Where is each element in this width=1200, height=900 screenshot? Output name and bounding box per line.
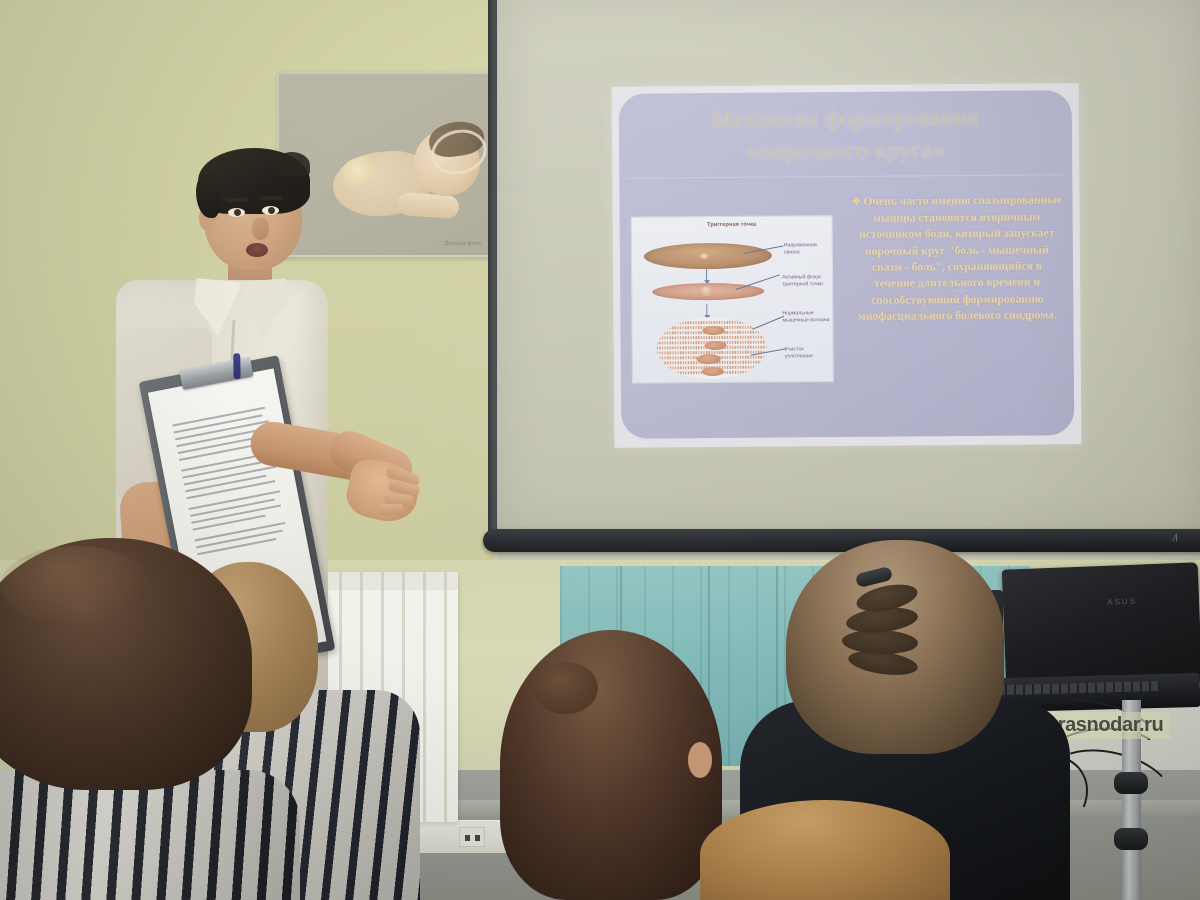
presenter-finger-4 <box>378 504 404 516</box>
projected-slide: Механизм формирования «порочного круга» … <box>612 83 1082 448</box>
presenter-mouth <box>246 243 268 257</box>
power-outlet[interactable] <box>459 827 485 847</box>
presenter-eye-left <box>228 208 245 217</box>
contraction-knot-4 <box>702 367 724 376</box>
bullet-diamond-icon: ❖ <box>851 196 861 208</box>
presenter-hair-tuft <box>276 152 310 176</box>
pen[interactable] <box>233 353 240 379</box>
slide-body-paragraph: Очень часто именно спазмированные мышцы … <box>858 193 1062 323</box>
audience-3-bun <box>534 662 598 714</box>
callout-label-active-focus: Активный фокус триггерной точки <box>782 274 830 288</box>
screen-weight-bar[interactable]: /\ <box>483 529 1200 552</box>
diagram-arrow-2 <box>706 304 707 316</box>
diagram-title: Триггерная точка <box>632 221 832 229</box>
slide-title-line-1: Механизм формирования <box>619 101 1072 137</box>
audience-1-hair <box>0 538 252 790</box>
diagram-arrow-1 <box>706 269 707 281</box>
callout-label-taut-band: Напряженная связка <box>784 242 832 256</box>
screen-brand-logo: /\ <box>1172 533 1178 544</box>
audience-4-hair <box>700 800 950 900</box>
callout-label-induration: Участок уплотнения <box>785 346 833 360</box>
trigger-point-diagram: Триггерная точка <box>631 215 834 384</box>
laptop-brand-label: ASUS <box>1107 597 1137 607</box>
slide-content-area: Механизм формирования «порочного круга» … <box>619 90 1075 439</box>
presenter-eye-right <box>262 206 279 215</box>
audience-3-ear <box>688 742 712 778</box>
stand-clamp-2[interactable] <box>1114 828 1148 850</box>
slide-title-line-2: «порочного круга» <box>619 133 1072 169</box>
slide-title-divider <box>627 174 1062 178</box>
trigger-point-nucleus-2 <box>700 286 713 296</box>
laptop[interactable]: ASUS <box>1002 562 1200 689</box>
trigger-point-nucleus-1 <box>700 253 709 259</box>
slide-body-text: ❖Очень часто именно спазмированные мышцы… <box>850 192 1063 325</box>
callout-label-normal-fibers: Нормальные мышечные волокна <box>782 310 830 324</box>
presentation-photo: Детская фото /\ Механизм формирования «п… <box>0 0 1200 900</box>
presenter-nose <box>252 218 269 240</box>
muscle-fiber-bundle <box>656 317 766 380</box>
stand-clamp-1[interactable] <box>1114 772 1148 794</box>
laptop-keyboard[interactable] <box>980 681 1160 696</box>
slide-title: Механизм формирования «порочного круга» <box>619 101 1072 169</box>
presenter-eyebrow-right <box>260 196 282 201</box>
